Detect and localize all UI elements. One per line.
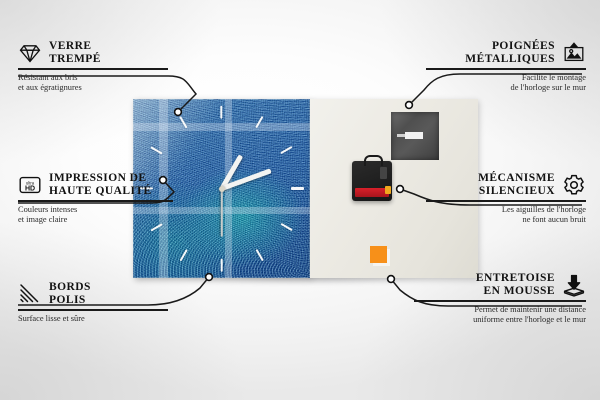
callout-subtitle-line1: Facilite le montage (426, 73, 586, 83)
callout-subtitle-line2: uniforme entre l'horloge et le mur (414, 315, 586, 325)
hour-tick (281, 146, 293, 155)
hour-tick (291, 187, 304, 189)
callout-subtitle-line1: Surface lisse et sûre (18, 314, 168, 324)
hour-tick (179, 249, 188, 261)
callout-verre-trempe: VERRE TREMPÉ Résistant aux bris et aux é… (18, 40, 168, 93)
callout-title-line1: BORDS (49, 281, 91, 294)
diamond-icon (18, 41, 42, 65)
callout-title-line1: POIGNÉES (465, 40, 555, 53)
callout-title-line2: MÉTALLIQUES (465, 53, 555, 66)
hour-tick (150, 146, 162, 155)
hour-tick (220, 258, 222, 271)
polished-edge-icon (18, 282, 42, 306)
callout-rule (426, 200, 586, 202)
callout-poignees-metalliques: POIGNÉES MÉTALLIQUES Facilite le montage… (426, 40, 586, 93)
callout-rule (18, 309, 168, 311)
hanger-slot (405, 132, 423, 139)
callout-subtitle-line2: et aux égratignures (18, 83, 168, 93)
callout-title-line1: IMPRESSION DE (49, 172, 152, 185)
callout-subtitle-line1: Permet de maintenir une distance (414, 305, 586, 315)
callout-rule (414, 300, 586, 302)
callout-entretoise-en-mousse: ENTRETOISE EN MOUSSE Permet de maintenir… (414, 272, 586, 325)
hand-center-cap (219, 186, 225, 192)
hour-tick (220, 105, 222, 118)
callout-subtitle-line2: et image claire (18, 215, 173, 225)
callout-title: BORDS POLIS (49, 281, 91, 306)
callout-subtitle-line1: Les aiguilles de l'horloge (426, 205, 586, 215)
callout-title: VERRE TREMPÉ (49, 40, 101, 65)
callout-subtitle-line1: Couleurs intenses (18, 205, 173, 215)
callout-title: POIGNÉES MÉTALLIQUES (465, 40, 555, 65)
callout-title: IMPRESSION DE HAUTE QUALITÉ (49, 172, 152, 197)
gear-icon (562, 173, 586, 197)
callout-header: MÉCANISME SILENCIEUX (426, 172, 586, 197)
callout-header: BORDS POLIS (18, 281, 168, 306)
callout-title-line2: SILENCIEUX (478, 185, 555, 198)
callout-header: ENTRETOISE EN MOUSSE (414, 272, 586, 297)
hour-tick (281, 222, 293, 231)
callout-title-line1: ENTRETOISE (476, 272, 555, 285)
callout-subtitle-line1: Résistant aux bris (18, 73, 168, 83)
callout-mecanisme-silencieux: MÉCANISME SILENCIEUX Les aiguilles de l'… (426, 172, 586, 225)
callout-title-line1: VERRE (49, 40, 101, 53)
mechanism-shaft (380, 167, 387, 179)
callout-header: ultra HD IMPRESSION DE HAUTE QUALITÉ (18, 172, 173, 197)
callout-title-line2: EN MOUSSE (476, 285, 555, 298)
callout-title: ENTRETOISE EN MOUSSE (476, 272, 555, 297)
callout-title-line2: TREMPÉ (49, 53, 101, 66)
press-down-pad-icon (562, 273, 586, 297)
clock-mechanism-part (352, 161, 392, 201)
metal-hanger-part (391, 112, 439, 160)
callout-title: MÉCANISME SILENCIEUX (478, 172, 555, 197)
hour-tick (179, 116, 188, 128)
callout-rule (18, 200, 173, 202)
callout-title-line2: HAUTE QUALITÉ (49, 185, 152, 198)
callout-title-line2: POLIS (49, 294, 91, 307)
battery-part (355, 188, 389, 197)
ultra-hd-bottom-text: HD (25, 185, 35, 192)
callout-title-line1: MÉCANISME (478, 172, 555, 185)
callout-subtitle-line2: de l'horloge sur le mur (426, 83, 586, 93)
hanging-frame-icon (562, 41, 586, 65)
infographic-canvas: VERRE TREMPÉ Résistant aux bris et aux é… (0, 0, 600, 400)
callout-bords-polis: BORDS POLIS Surface lisse et sûre (18, 281, 168, 324)
mechanism-hook (364, 155, 383, 166)
callout-header: POIGNÉES MÉTALLIQUES (426, 40, 586, 65)
ultra-hd-badge-icon: ultra HD (18, 173, 42, 197)
battery-terminal (385, 186, 391, 194)
foam-spacer-part (370, 246, 387, 263)
callout-subtitle-line2: ne font aucun bruit (426, 215, 586, 225)
second-hand (221, 189, 223, 237)
hour-tick (255, 116, 264, 128)
callout-rule (18, 68, 168, 70)
callout-header: VERRE TREMPÉ (18, 40, 168, 65)
callout-impression-haute-qualite: ultra HD IMPRESSION DE HAUTE QUALITÉ Cou… (18, 172, 173, 225)
hour-tick (255, 249, 264, 261)
callout-rule (426, 68, 586, 70)
